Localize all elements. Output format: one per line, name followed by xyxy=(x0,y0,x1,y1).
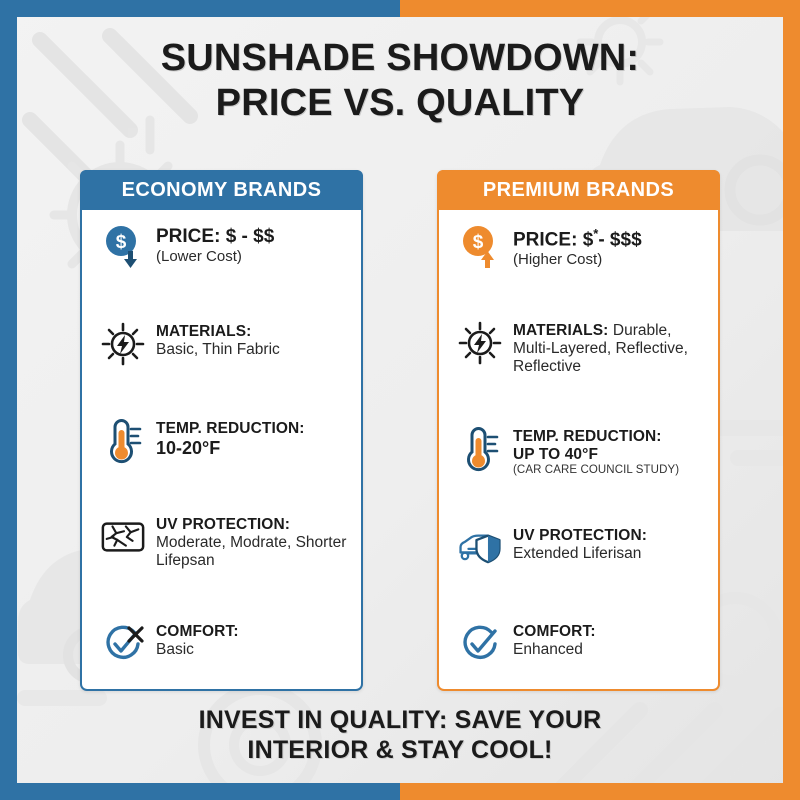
thermometer-icon xyxy=(100,418,146,464)
premium-spacer-bottom xyxy=(451,667,706,677)
premium-materials-row: MATERIALS: Durable, Multi-Layered, Refle… xyxy=(513,322,706,376)
frame-bottom-right-orange xyxy=(400,783,800,800)
premium-price-text: PRICE: $*- $$$ (Higher Cost) xyxy=(513,224,706,268)
economy-spacer-2 xyxy=(94,367,349,418)
dollar-coin-up-icon: $ xyxy=(457,224,503,270)
economy-feature-uv: UV PROTECTION: Moderate, Modrate, Shorte… xyxy=(94,514,349,570)
frame-left-blue xyxy=(0,0,17,800)
premium-spacer-3 xyxy=(451,476,706,526)
check-x-circle-icon xyxy=(100,621,146,667)
sun-bolt-icon xyxy=(457,320,503,366)
economy-brands-card: ECONOMY BRANDS $ PRICE: $ - $$ (Lower xyxy=(80,170,363,691)
svg-text:$: $ xyxy=(116,232,127,253)
frame-top-left-blue xyxy=(0,0,400,17)
thermometer-icon xyxy=(457,426,503,472)
premium-brands-card: PREMIUM BRANDS $ PRICE: $*- $$$ (High xyxy=(437,170,720,691)
footer-callout: INVEST IN QUALITY: SAVE YOUR INTERIOR & … xyxy=(17,705,783,765)
economy-comfort-label: COMFORT: xyxy=(156,623,349,641)
premium-feature-comfort: COMFORT: Enhanced xyxy=(451,621,706,667)
economy-spacer-bottom xyxy=(94,667,349,677)
economy-uv-value: Moderate, Modrate, Shorter Lifepsan xyxy=(156,534,349,570)
premium-temperature-value: UP TO 40°F xyxy=(513,446,706,464)
car-shield-icon xyxy=(457,525,503,571)
economy-materials-text: MATERIALS: Basic, Thin Fabric xyxy=(156,321,349,359)
sun-bolt-icon xyxy=(100,321,146,367)
premium-spacer-1 xyxy=(451,270,706,320)
premium-uv-text: UV PROTECTION: Extended Liferisan xyxy=(513,525,706,563)
premium-price-value: PRICE: $*- $$$ xyxy=(513,226,706,251)
economy-card-body: $ PRICE: $ - $$ (Lower Cost) xyxy=(82,210,361,687)
sunshade-comparison-infographic: SUNSHADE SHOWDOWN: PRICE VS. QUALITY ECO… xyxy=(0,0,800,800)
premium-feature-temperature: TEMP. REDUCTION: UP TO 40°F (CAR CARE CO… xyxy=(451,426,706,476)
frame-right-orange xyxy=(783,0,800,800)
premium-comfort-text: COMFORT: Enhanced xyxy=(513,621,706,659)
economy-price-sub: (Lower Cost) xyxy=(156,248,349,265)
economy-spacer-3 xyxy=(94,464,349,515)
economy-comfort-text: COMFORT: Basic xyxy=(156,621,349,659)
premium-feature-price: $ PRICE: $*- $$$ (Higher Cost) xyxy=(451,224,706,270)
premium-feature-uv: UV PROTECTION: Extended Liferisan xyxy=(451,525,706,571)
economy-spacer-1 xyxy=(94,270,349,321)
economy-feature-price: $ PRICE: $ - $$ (Lower Cost) xyxy=(94,224,349,270)
premium-price-sub: (Higher Cost) xyxy=(513,251,706,268)
page-title: SUNSHADE SHOWDOWN: PRICE VS. QUALITY xyxy=(17,36,783,126)
footer-line-1: INVEST IN QUALITY: SAVE YOUR xyxy=(17,705,783,735)
premium-temperature-label: TEMP. REDUCTION: xyxy=(513,428,706,446)
dollar-coin-down-icon: $ xyxy=(100,224,146,270)
economy-materials-label: MATERIALS: xyxy=(156,323,349,341)
economy-feature-comfort: COMFORT: Basic xyxy=(94,621,349,667)
premium-uv-value: Extended Liferisan xyxy=(513,545,706,563)
economy-materials-value: Basic, Thin Fabric xyxy=(156,341,349,359)
economy-comfort-value: Basic xyxy=(156,641,349,659)
economy-spacer-4 xyxy=(94,570,349,621)
economy-card-header: ECONOMY BRANDS xyxy=(80,170,363,210)
economy-feature-materials: MATERIALS: Basic, Thin Fabric xyxy=(94,321,349,367)
economy-temperature-text: TEMP. REDUCTION: 10-20°F xyxy=(156,418,349,459)
svg-text:$: $ xyxy=(473,232,484,253)
premium-comfort-label: COMFORT: xyxy=(513,623,706,641)
economy-uv-text: UV PROTECTION: Moderate, Modrate, Shorte… xyxy=(156,514,349,570)
premium-card-body: $ PRICE: $*- $$$ (Higher Cost) xyxy=(439,210,718,687)
title-line-2: PRICE VS. QUALITY xyxy=(17,81,783,126)
economy-temperature-label: TEMP. REDUCTION: xyxy=(156,420,349,438)
premium-comfort-value: Enhanced xyxy=(513,641,706,659)
economy-price-text: PRICE: $ - $$ (Lower Cost) xyxy=(156,224,349,265)
frame-top-right-orange xyxy=(400,0,800,17)
title-line-1: SUNSHADE SHOWDOWN: xyxy=(17,36,783,81)
economy-temperature-value: 10-20°F xyxy=(156,438,349,459)
economy-price-value: PRICE: $ - $$ xyxy=(156,226,349,248)
premium-feature-materials: MATERIALS: Durable, Multi-Layered, Refle… xyxy=(451,320,706,376)
check-circle-icon xyxy=(457,621,503,667)
premium-card-header: PREMIUM BRANDS xyxy=(437,170,720,210)
premium-spacer-2 xyxy=(451,376,706,426)
premium-uv-label: UV PROTECTION: xyxy=(513,527,706,545)
frame-bottom-left-blue xyxy=(0,783,400,800)
premium-temperature-text: TEMP. REDUCTION: UP TO 40°F (CAR CARE CO… xyxy=(513,426,706,476)
footer-line-2: INTERIOR & STAY COOL! xyxy=(17,735,783,765)
economy-feature-temperature: TEMP. REDUCTION: 10-20°F xyxy=(94,418,349,464)
premium-materials-text: MATERIALS: Durable, Multi-Layered, Refle… xyxy=(513,320,706,376)
cracked-windshield-icon xyxy=(100,514,146,560)
economy-uv-label: UV PROTECTION: xyxy=(156,516,349,534)
premium-spacer-4 xyxy=(451,571,706,621)
premium-temperature-note: (CAR CARE COUNCIL STUDY) xyxy=(513,464,706,476)
